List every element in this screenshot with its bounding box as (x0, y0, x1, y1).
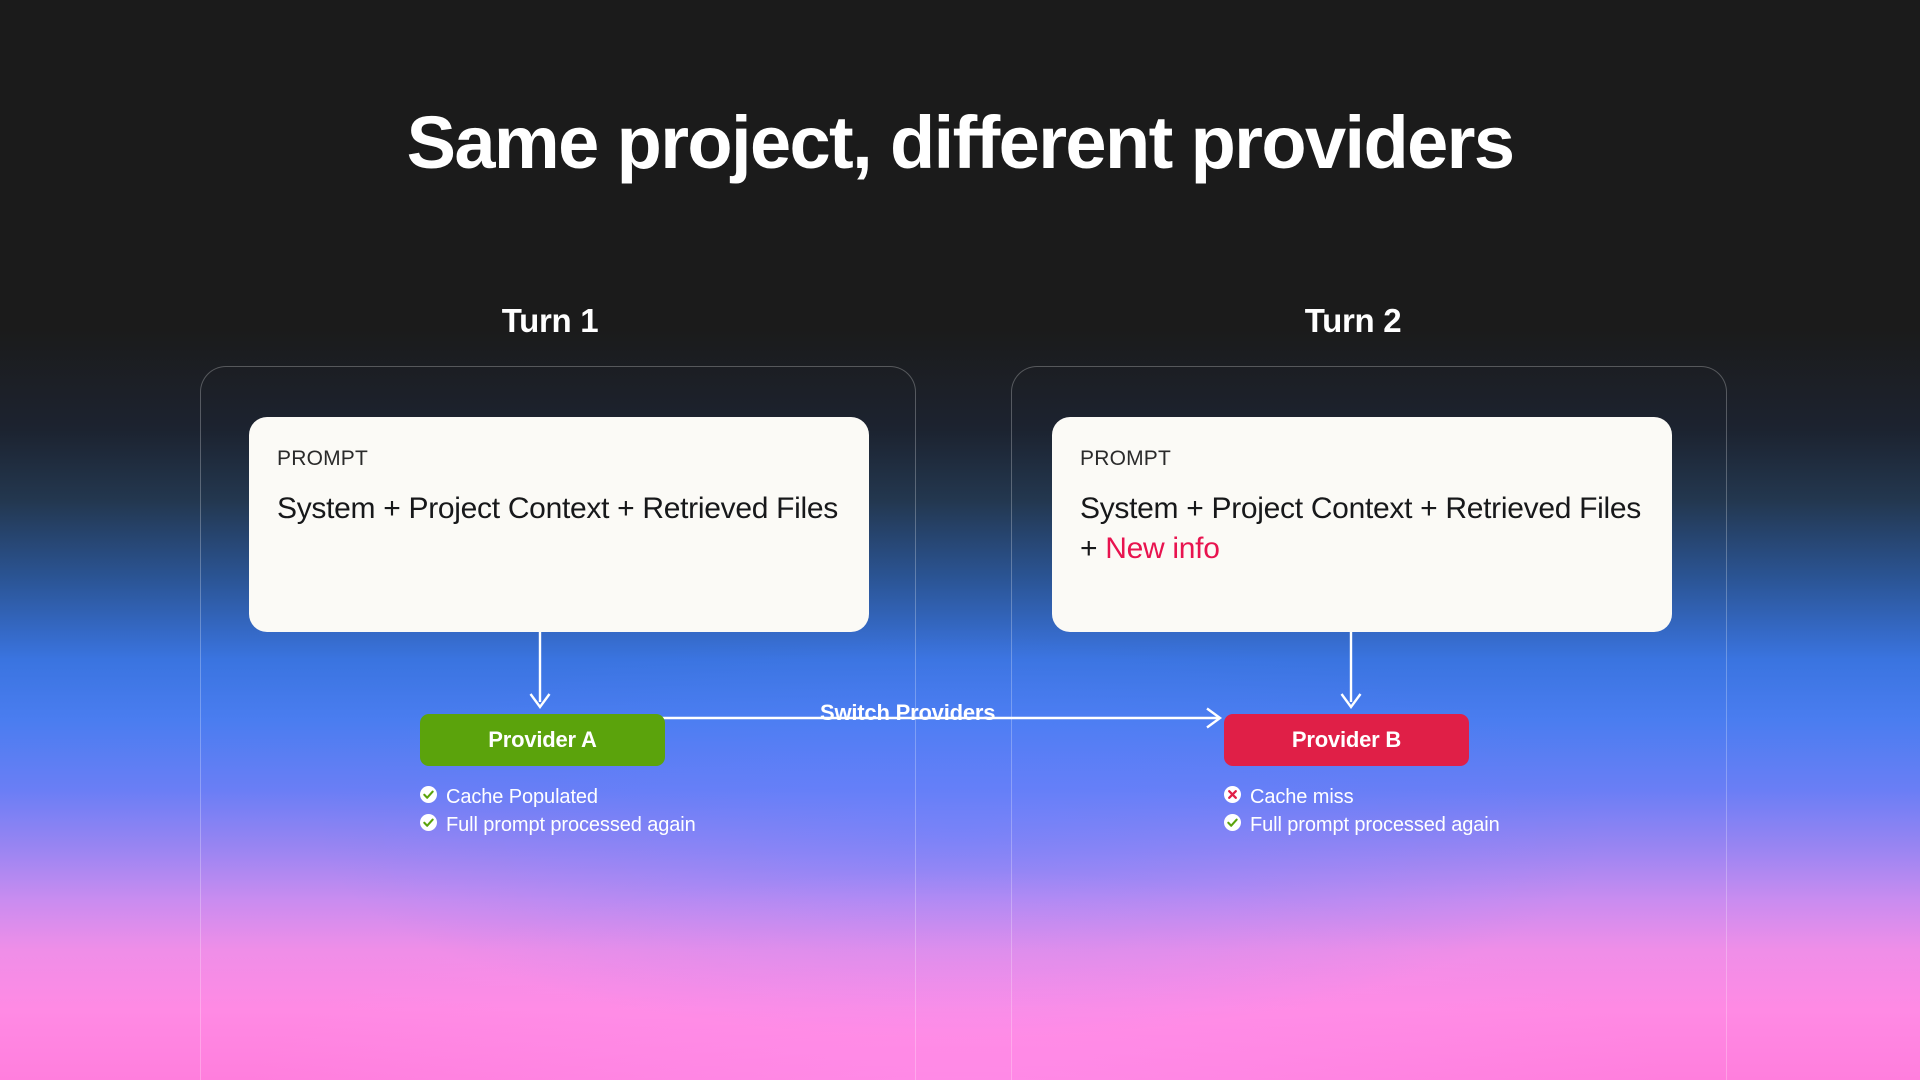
prompt-kicker: PROMPT (277, 447, 841, 471)
arrow-down-icon (1338, 632, 1364, 719)
check-circle-icon (420, 786, 437, 809)
prompt-card-turn-1: PROMPT System + Project Context + Retrie… (249, 417, 869, 632)
turn-2-heading: Turn 2 (1203, 302, 1503, 340)
prompt-body: System + Project Context + Retrieved Fil… (277, 489, 841, 529)
provider-b-label: Provider B (1292, 727, 1401, 753)
status-label: Full prompt processed again (446, 814, 696, 837)
prompt-card-turn-2: PROMPT System + Project Context + Retrie… (1052, 417, 1672, 632)
switch-providers-label: Switch Providers (820, 700, 995, 726)
prompt-new-info-highlight: New info (1105, 532, 1219, 565)
check-circle-icon (420, 814, 437, 837)
status-row: Full prompt processed again (1224, 814, 1500, 837)
provider-b-pill[interactable]: Provider B (1224, 714, 1469, 766)
page-title: Same project, different providers (0, 106, 1920, 180)
status-list-turn-1: Cache Populated Full prompt processed ag… (420, 786, 696, 842)
prompt-kicker: PROMPT (1080, 447, 1644, 471)
status-label: Full prompt processed again (1250, 814, 1500, 837)
prompt-body: System + Project Context + Retrieved Fil… (1080, 489, 1644, 569)
turn-1-heading: Turn 1 (400, 302, 700, 340)
arrow-down-icon (527, 632, 553, 719)
provider-a-pill[interactable]: Provider A (420, 714, 665, 766)
check-circle-icon (1224, 814, 1241, 837)
provider-a-label: Provider A (488, 727, 596, 753)
status-label: Cache miss (1250, 786, 1353, 809)
status-row: Cache miss (1224, 786, 1500, 809)
status-list-turn-2: Cache miss Full prompt processed again (1224, 786, 1500, 842)
slide-canvas: Same project, different providers Turn 1… (0, 0, 1920, 1080)
cross-circle-icon (1224, 786, 1241, 809)
prompt-body-text: System + Project Context + Retrieved Fil… (277, 492, 838, 525)
status-row: Full prompt processed again (420, 814, 696, 837)
status-label: Cache Populated (446, 786, 598, 809)
status-row: Cache Populated (420, 786, 696, 809)
